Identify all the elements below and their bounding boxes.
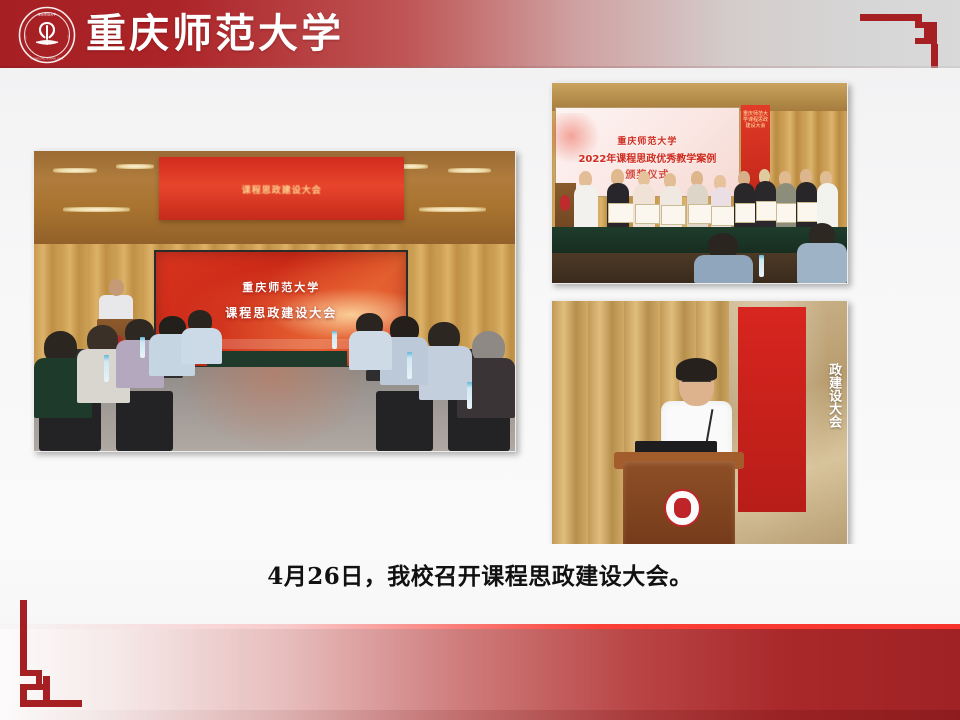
water-bottle <box>332 331 337 349</box>
hall-overhead-banner: 课程思政建设大会 <box>159 157 404 220</box>
audience-torso <box>181 328 222 364</box>
podium-university-emblem-icon <box>664 489 700 527</box>
water-bottle <box>407 352 412 379</box>
content-area: 课程思政建设大会 重庆师范大学 课程思政建设大会 <box>0 68 960 544</box>
foreground-torso <box>694 255 753 283</box>
award-ceremony-photo[interactable]: 重庆师范大学 2022年课程思政优秀教学案例 颁奖仪式 重庆师范大学课程思政建设… <box>551 82 848 284</box>
award-ceremony-scene: 重庆师范大学 2022年课程思政优秀教学案例 颁奖仪式 重庆师范大学课程思政建设… <box>552 83 847 283</box>
water-bottle <box>759 255 764 277</box>
conference-hall-scene: 课程思政建设大会 重庆师范大学 课程思政建设大会 <box>34 151 515 451</box>
water-bottle <box>467 382 472 409</box>
speaker-backdrop-text: 政建设大会 <box>806 307 841 484</box>
speaker-glasses <box>682 381 712 391</box>
fret-corner-bottom-left-icon <box>14 600 100 664</box>
speaker-red-backdrop <box>738 307 806 512</box>
slide-caption: 4月26日，我校召开课程思政建设大会。 <box>0 560 960 594</box>
footer-band <box>0 629 960 720</box>
award-screen-line1: 重庆师范大学 <box>563 134 731 147</box>
water-bottle <box>104 355 109 382</box>
speaker-hair <box>676 358 717 381</box>
conference-hall-photo[interactable]: 课程思政建设大会 重庆师范大学 课程思政建设大会 <box>33 150 516 452</box>
hall-banner-text: 课程思政建设大会 <box>159 183 404 196</box>
svg-text:1954: 1954 <box>67 34 70 40</box>
svg-text:CHONGQING NORMAL UNIV.: CHONGQING NORMAL UNIV. <box>30 58 64 61</box>
water-bottle <box>140 337 145 358</box>
svg-text:重庆师范大学: 重庆师范大学 <box>38 11 57 16</box>
hall-screen-line1: 重庆师范大学 <box>156 279 406 295</box>
header-content: 重庆师范大学 CHONGQING NORMAL UNIV. 1954 1954 … <box>0 0 960 68</box>
audience-torso <box>349 331 392 370</box>
university-crest-icon: 重庆师范大学 CHONGQING NORMAL UNIV. 1954 1954 <box>18 6 76 64</box>
caption-area: 4月26日，我校召开课程思政建设大会。 <box>0 544 960 624</box>
foreground-torso <box>797 243 847 283</box>
audience-chair <box>376 391 434 451</box>
svg-text:1954: 1954 <box>25 34 28 40</box>
award-side-banner-text: 重庆师范大学课程思政建设大会 <box>741 105 771 129</box>
slide-canvas: 重庆师范大学 CHONGQING NORMAL UNIV. 1954 1954 … <box>0 0 960 720</box>
university-name-title: 重庆师范大学 <box>86 7 346 61</box>
award-screen-line2: 2022年课程思政优秀教学案例 <box>563 150 731 165</box>
fret-corner-top-right-icon <box>860 8 946 68</box>
page-header: 重庆师范大学 CHONGQING NORMAL UNIV. 1954 1954 … <box>0 0 960 68</box>
